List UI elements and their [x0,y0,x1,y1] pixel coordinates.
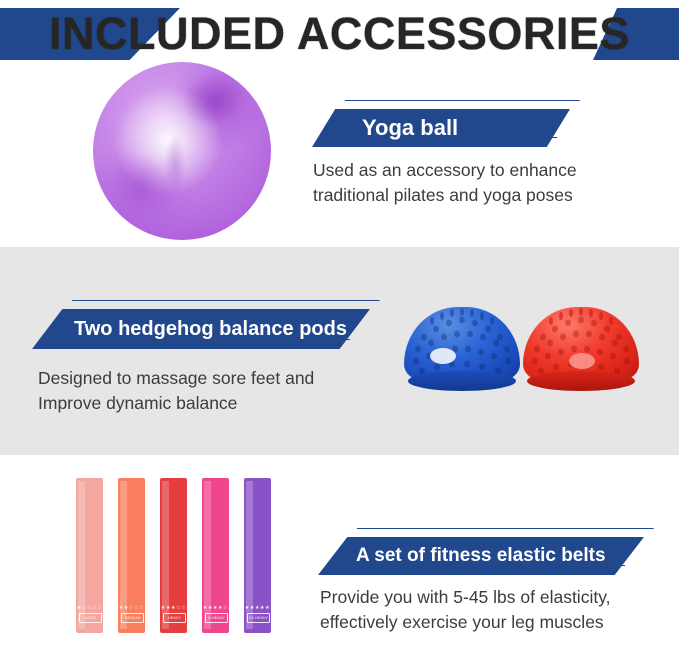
resistance-band-5-tag: XX-HEAVY [247,613,270,623]
balance-pod-red-dome [523,307,639,381]
resistance-band-3-tag: HEAVY [163,613,186,623]
balance-pod-red-spikes [523,307,639,381]
elastic-belts-banner-label: A set of fitness elastic belts [356,545,606,567]
resistance-band-2-stars: ★★☆☆☆ [118,605,145,611]
elastic-belts-banner: A set of fitness elastic belts [318,528,644,566]
resistance-band-1-stars: ★☆☆☆☆ [76,605,103,611]
resistance-band-4-tag: X-HEAVY [205,613,228,623]
balance-pod-blue-spikes [404,307,520,381]
resistance-band-2-tag: MEDIUM [121,613,144,623]
page-header: INCLUDED ACCESSORIES [0,0,679,68]
balance-pods-banner-label: Two hedgehog balance pods [74,318,347,341]
balance-pod-red-base [527,371,635,391]
resistance-band-1-tag: LIGHT [79,613,102,623]
balance-pod-red-valve [569,353,595,369]
yoga-ball-image [93,62,271,240]
yoga-ball-seam [164,133,185,194]
resistance-band-3-stars: ★★★☆☆ [160,605,187,611]
resistance-band-4: ★★★★☆ X-HEAVY [202,478,229,633]
balance-pod-blue-dome [404,307,520,381]
resistance-band-5-stars: ★★★★★ [244,605,271,611]
balance-pod-blue-base [408,371,516,391]
page-title: INCLUDED ACCESSORIES [0,0,679,68]
resistance-band-2: ★★☆☆☆ MEDIUM [118,478,145,633]
yoga-ball-banner: Yoga ball [312,100,570,138]
balance-pod-blue-image [404,307,520,393]
yoga-ball-banner-label: Yoga ball [362,115,458,141]
yoga-ball-description: Used as an accessory to enhance traditio… [313,158,643,208]
balance-pod-red-image [523,307,639,393]
elastic-belts-banner-fill: A set of fitness elastic belts [318,537,644,575]
yoga-ball-banner-fill: Yoga ball [312,109,570,147]
resistance-band-5: ★★★★★ XX-HEAVY [244,478,271,633]
resistance-band-4-stars: ★★★★☆ [202,605,229,611]
infographic-page: INCLUDED ACCESSORIES Yoga ball Used as a… [0,0,679,657]
balance-pods-banner: Two hedgehog balance pods [32,300,370,340]
resistance-band-1: ★☆☆☆☆ LIGHT [76,478,103,633]
elastic-belts-description: Provide you with 5-45 lbs of elasticity,… [320,585,660,635]
balance-pods-description: Designed to massage sore feet and Improv… [38,366,378,416]
yoga-ball-marble-swirl-top [175,64,252,135]
balance-pods-banner-fill: Two hedgehog balance pods [32,309,370,349]
resistance-band-3: ★★★☆☆ HEAVY [160,478,187,633]
